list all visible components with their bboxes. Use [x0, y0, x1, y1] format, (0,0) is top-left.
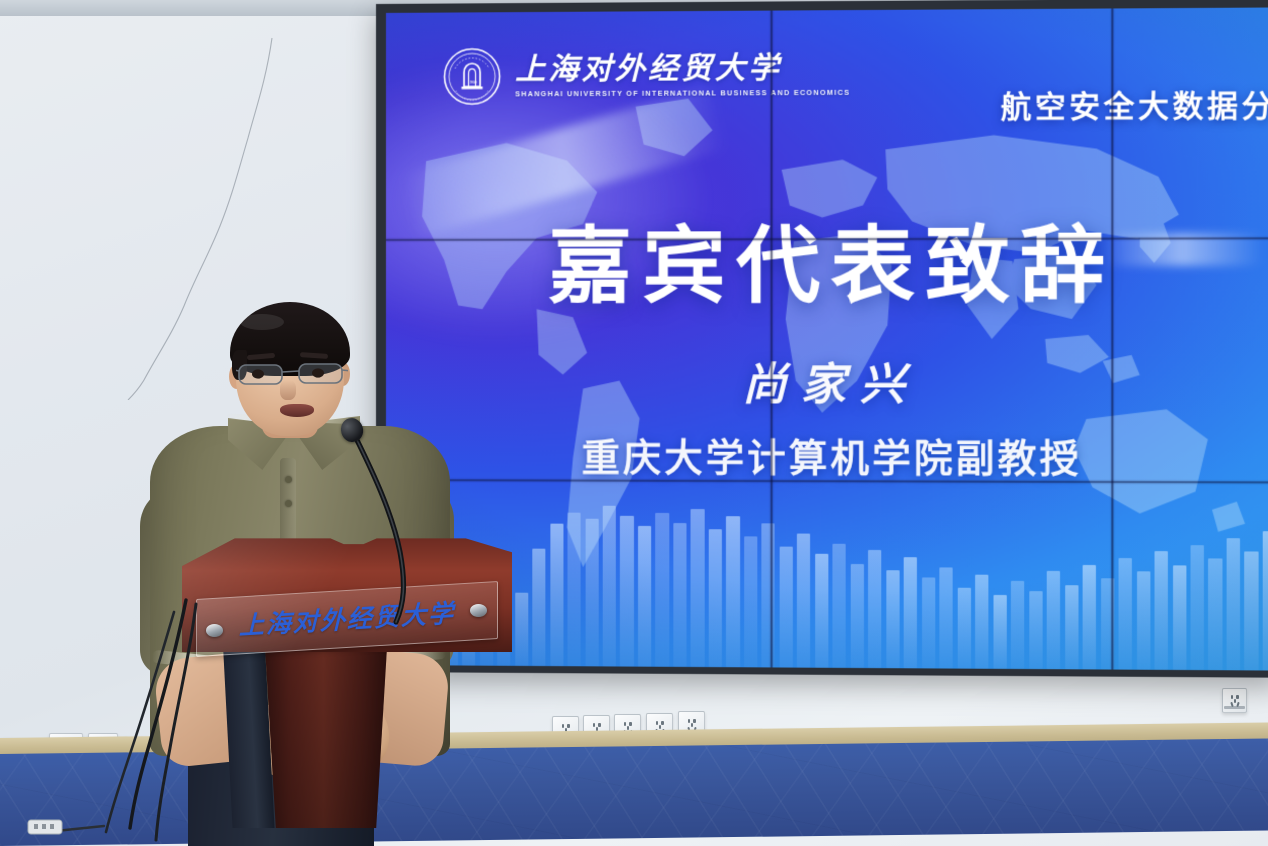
speaker-podium: 上海对外经贸大学: [182, 528, 512, 828]
presentation-photo-scene: 1960 上海对外经贸大学 SHANGHAI UNIVERSITY OF INT…: [0, 0, 1268, 846]
person-mouth: [280, 404, 314, 417]
svg-text:1960: 1960: [467, 80, 477, 85]
power-outlet[interactable]: [1222, 688, 1247, 713]
slide-speaker-name: 尚家兴: [386, 348, 1268, 413]
plaque-standoff: [206, 624, 223, 637]
video-wall-screen: 1960 上海对外经贸大学 SHANGHAI UNIVERSITY OF INT…: [386, 7, 1268, 670]
plaque-standoff: [470, 604, 487, 617]
panel-seam-vertical: [771, 11, 773, 668]
university-crest-icon: 1960: [442, 46, 502, 106]
slide-main-title: 嘉宾代表致辞: [386, 197, 1268, 319]
university-name-en: SHANGHAI UNIVERSITY OF INTERNATIONAL BUS…: [515, 88, 850, 99]
slide-speaker-affiliation: 重庆大学计算机学院副教授: [386, 426, 1268, 483]
university-brand-lockup: 1960 上海对外经贸大学 SHANGHAI UNIVERSITY OF INT…: [442, 44, 850, 106]
topic-banner-text: 航空安全大数据分析及应用: [1001, 80, 1268, 127]
eyeglasses-icon: [236, 360, 348, 388]
podium-plaque-text: 上海对外经贸大学: [197, 591, 497, 645]
panel-seam-vertical: [1111, 8, 1113, 669]
university-name-cn: 上海对外经贸大学: [515, 52, 850, 86]
